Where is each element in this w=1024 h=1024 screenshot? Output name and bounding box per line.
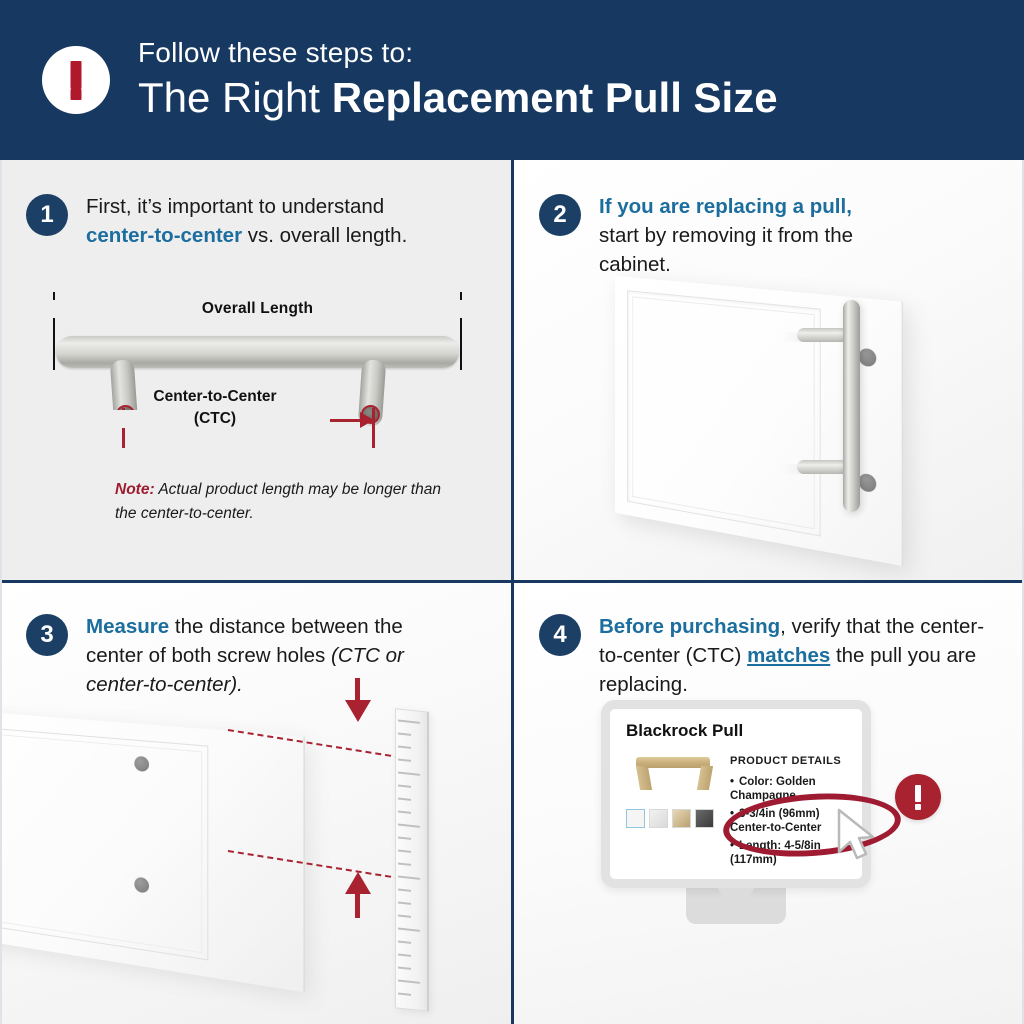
step-1-text: First, it’s important to understand cent… [86, 192, 407, 250]
step-2-header: 2 If you are replacing a pull, start by … [539, 192, 869, 279]
ruler-tick [398, 863, 411, 866]
measure-arrow-down-icon [345, 700, 371, 722]
pull-thumb-silver[interactable] [649, 809, 668, 828]
step-3-text: Measure the distance between the center … [86, 612, 426, 699]
pull-thumb-selected[interactable] [626, 809, 645, 828]
step-4-number: 4 [539, 614, 581, 656]
pull-diagram: Overall Length Center-to-Center (CTC) [50, 300, 465, 450]
ruler-tick [398, 798, 411, 801]
header-banner: Follow these steps to: The Right Replace… [0, 0, 1024, 160]
arrow-stem-down [355, 678, 360, 702]
step-2-accent: If you are replacing a pull, [599, 195, 852, 218]
steps-grid: 1 First, it’s important to understand ce… [0, 160, 1024, 1024]
ctc-label: Center-to-Center [100, 388, 330, 406]
bar-pull-graphic [843, 300, 860, 512]
alert-exclamation-icon [895, 774, 941, 820]
gold-pull-leg-right [697, 766, 713, 790]
product-title: Blackrock Pull [626, 721, 743, 741]
ruler-tick [398, 967, 411, 970]
measure-arrow-up-icon [345, 872, 371, 894]
step-4-text: Before purchasing, verify that the cente… [599, 612, 989, 699]
step-3-header: 3 Measure the distance between the cente… [26, 612, 426, 699]
ruler-tick [398, 876, 420, 880]
step-2-text: If you are replacing a pull, start by re… [599, 192, 869, 279]
ruler-tick [398, 941, 411, 944]
step-2-rest: start by removing it from the cabinet. [599, 224, 853, 276]
ruler-tick [398, 902, 411, 905]
ruler-tick [398, 915, 411, 918]
gold-pull-leg-left [636, 766, 652, 790]
title-light: The Right [138, 74, 332, 121]
ruler-tick [398, 980, 420, 984]
ruler-tick [398, 889, 411, 892]
step-1-line2: vs. overall length. [242, 224, 407, 247]
ruler-tick [398, 954, 411, 957]
header-text: Follow these steps to: The Right Replace… [138, 37, 778, 124]
left-edge-border [0, 160, 2, 1024]
step-1-accent: center-to-center [86, 224, 242, 247]
overall-length-label: Overall Length [50, 300, 465, 318]
step-1-number: 1 [26, 194, 68, 236]
step-2-number: 2 [539, 194, 581, 236]
vertical-divider [511, 160, 514, 1024]
step-panel-3: 3 Measure the distance between the cente… [0, 582, 511, 1024]
step-panel-4: 4 Before purchasing, verify that the cen… [513, 582, 1024, 1024]
ruler-tick [398, 785, 411, 788]
note-label: Note: [115, 481, 155, 498]
step-4-link[interactable]: matches [747, 644, 830, 667]
door-panel-inset-3b [0, 731, 202, 953]
ruler-tick [398, 850, 411, 853]
ruler-tick [398, 811, 411, 814]
infographic-poster: Follow these steps to: The Right Replace… [0, 0, 1024, 1024]
measuring-ruler [395, 708, 429, 1012]
ruler-tick [398, 746, 411, 749]
overall-length-dimension: Overall Length [50, 300, 465, 322]
screw-hole-bottom [859, 473, 877, 494]
ruler-tick [398, 772, 420, 776]
cabinet-door-graphic-3 [0, 709, 305, 992]
horizontal-divider [0, 580, 1024, 583]
step-1-line1: First, it’s important to understand [86, 195, 384, 218]
pull-thumb-gold[interactable] [672, 809, 691, 828]
product-image [628, 753, 718, 795]
ruler-tick [398, 733, 411, 736]
arrow-stem-up [355, 894, 360, 918]
note-text: Actual product length may be longer than… [115, 481, 441, 522]
alert-exclamation-icon [42, 46, 110, 114]
step-3-number: 3 [26, 614, 68, 656]
screw-hole-top [859, 348, 877, 368]
header-eyebrow: Follow these steps to: [138, 37, 778, 69]
ruler-tick [398, 824, 420, 828]
product-thumbnails[interactable] [626, 809, 714, 828]
ruler-tick [398, 837, 411, 840]
screw-hole-top-3 [134, 756, 149, 772]
step-4-accent: Before purchasing [599, 615, 780, 638]
step-panel-2: 2 If you are replacing a pull, start by … [513, 160, 1024, 580]
product-details-heading: PRODUCT DETAILS [730, 755, 841, 767]
ctc-arrow-right-icon [360, 412, 374, 428]
ruler-tick [398, 759, 411, 762]
page-title: The Right Replacement Pull Size [138, 73, 778, 123]
monitor-neck [718, 888, 754, 924]
ruler-tick [398, 993, 411, 996]
step-4-header: 4 Before purchasing, verify that the cen… [539, 612, 989, 699]
step-panel-1: 1 First, it’s important to understand ce… [0, 160, 511, 580]
panel-1-note: Note: Actual product length may be longe… [115, 478, 445, 526]
ctc-abbreviation: (CTC) [100, 410, 330, 428]
mouse-cursor-icon [835, 808, 881, 864]
title-bold: Replacement Pull Size [332, 74, 778, 121]
ruler-tick [398, 928, 420, 932]
step-3-accent: Measure [86, 615, 169, 638]
ruler-tick [398, 720, 420, 724]
pull-thumb-dark[interactable] [695, 809, 714, 828]
step-1-header: 1 First, it’s important to understand ce… [26, 192, 456, 250]
